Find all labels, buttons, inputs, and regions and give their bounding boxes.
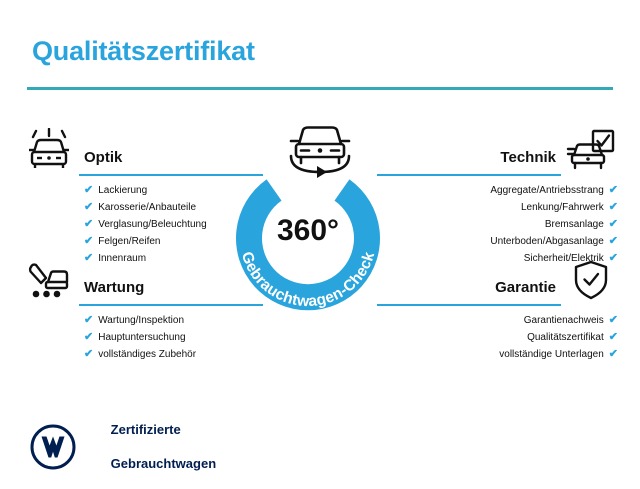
check-icon: ✔ [84, 314, 93, 326]
check-icon: ✔ [609, 184, 618, 196]
check-icon: ✔ [84, 184, 93, 196]
list-item: Aggregate/Antriebsstrang✔ [383, 182, 618, 199]
list-item: ✔Hauptuntersuchung [84, 329, 319, 346]
list-item-label: Qualitätszertifikat [527, 332, 604, 343]
list-item-label: vollständiges Zubehör [98, 349, 196, 360]
check-icon: ✔ [84, 218, 93, 230]
section-garantie-list: Garantienachweis✔ Qualitätszertifikat✔ v… [383, 312, 640, 363]
title-divider [27, 87, 613, 90]
section-technik-title: Technik [500, 149, 556, 166]
list-item: Lenkung/Fahrwerk✔ [383, 199, 618, 216]
section-garantie: Garantie Garantienachweis✔ Qualitätszert… [383, 258, 618, 304]
list-item-label: Hauptuntersuchung [98, 332, 185, 343]
list-item-label: Unterboden/Abgasanlage [490, 236, 603, 247]
list-item-label: Felgen/Reifen [98, 236, 160, 247]
check-icon: ✔ [84, 331, 93, 343]
check-icon: ✔ [609, 201, 618, 213]
list-item-label: Lenkung/Fahrwerk [521, 202, 604, 213]
section-garantie-title: Garantie [495, 279, 556, 296]
section-garantie-underline [377, 304, 561, 306]
rotation-arrow-head [317, 166, 327, 178]
check-icon: ✔ [609, 218, 618, 230]
section-technik-underline [377, 174, 561, 176]
car-shine-icon [24, 128, 74, 172]
check-icon: ✔ [609, 314, 618, 326]
list-item-label: Garantienachweis [524, 315, 604, 326]
vw-footer-line1: Zertifizierte [111, 422, 181, 437]
section-wartung-title: Wartung [84, 279, 144, 296]
check-icon: ✔ [84, 348, 93, 360]
list-item-label: Karosserie/Anbauteile [98, 202, 196, 213]
section-technik-list: Aggregate/Antriebsstrang✔ Lenkung/Fahrwe… [383, 182, 640, 267]
list-item-label: Wartung/Inspektion [98, 315, 184, 326]
check-icon: ✔ [84, 201, 93, 213]
section-technik: Technik Aggregate/Antriebsstrang✔ Lenkun… [383, 128, 618, 174]
list-item: Qualitätszertifikat✔ [383, 329, 618, 346]
car-checkbox-icon [566, 128, 616, 172]
list-item-label: Verglasung/Beleuchtung [98, 219, 206, 230]
list-item: Unterboden/Abgasanlage✔ [383, 233, 618, 250]
vw-footer: Zertifizierte Gebrauchtwagen [30, 404, 216, 489]
list-item-label: Aggregate/Antriebsstrang [490, 185, 603, 196]
vw-footer-line2: Gebrauchtwagen [111, 456, 216, 471]
list-item: Garantienachweis✔ [383, 312, 618, 329]
vw-footer-text: Zertifizierte Gebrauchtwagen [89, 404, 216, 489]
list-item-label: Bremsanlage [545, 219, 604, 230]
section-technik-header: Technik [383, 128, 618, 174]
page-title: Qualitätszertifikat [32, 36, 255, 67]
check-icon: ✔ [609, 331, 618, 343]
list-item: ✔vollständiges Zubehör [84, 346, 319, 363]
wrench-car-icon [24, 258, 74, 302]
shield-check-icon [566, 258, 616, 302]
list-item-label: Lackierung [98, 185, 147, 196]
check-icon: ✔ [609, 235, 618, 247]
section-optik-title: Optik [84, 149, 122, 166]
quality-certificate-page: Qualitätszertifikat [0, 0, 640, 480]
list-item: Bremsanlage✔ [383, 216, 618, 233]
check-icon: ✔ [84, 235, 93, 247]
car-rotation-icon [277, 118, 363, 182]
vw-logo [30, 424, 76, 470]
check-icon: ✔ [609, 348, 618, 360]
section-garantie-header: Garantie [383, 258, 618, 304]
list-item-label: vollständige Unterlagen [499, 349, 604, 360]
badge-center-label: 360° [222, 214, 394, 248]
list-item: vollständige Unterlagen✔ [383, 346, 618, 363]
